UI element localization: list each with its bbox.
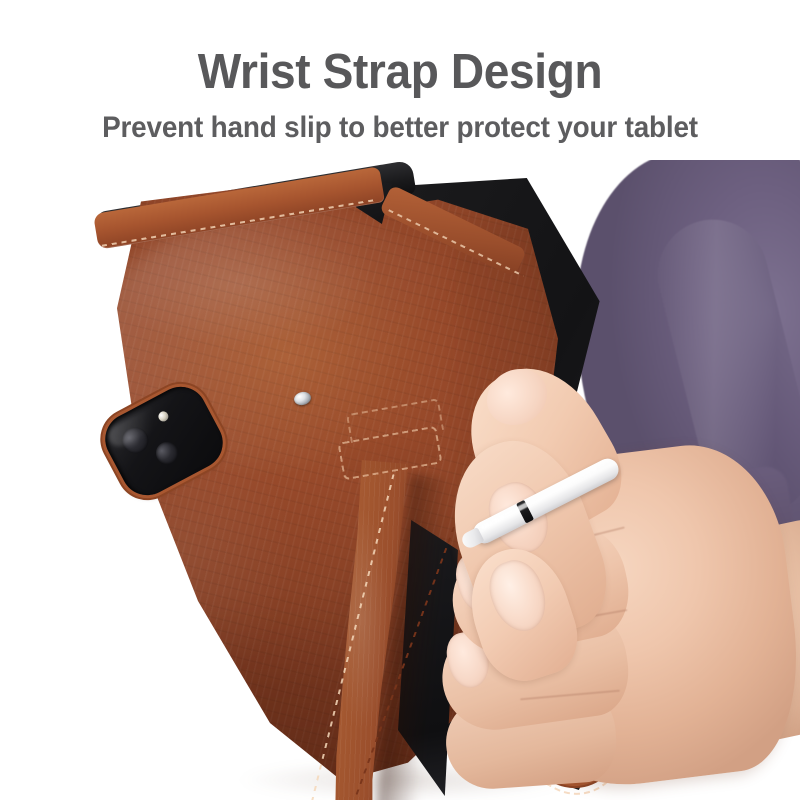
page-title: Wrist Strap Design: [24, 0, 776, 100]
product-feature-image: Wrist Strap Design Prevent hand slip to …: [0, 0, 800, 800]
page-subtitle: Prevent hand slip to better protect your…: [28, 100, 772, 146]
header-block: Wrist Strap Design Prevent hand slip to …: [0, 0, 800, 146]
human-hand: [400, 270, 800, 800]
product-photo: [0, 160, 800, 800]
